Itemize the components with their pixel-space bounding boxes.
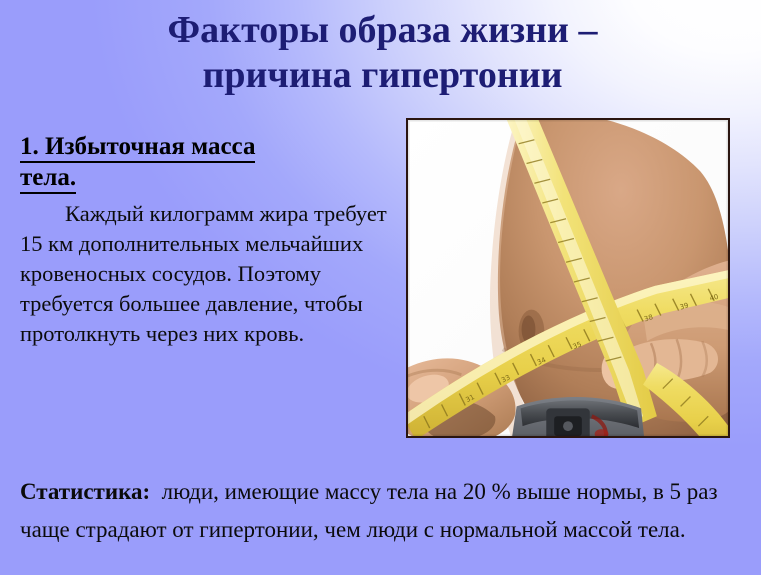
section-heading-line-1: 1. Избыточная масса (20, 133, 255, 163)
slide-title: Факторы образа жизни – причина гипертони… (60, 8, 705, 98)
statistics-paragraph: Статистика: люди, имеющие массу тела на … (20, 473, 740, 549)
left-text-column: 1. Избыточная масса тела. Каждый килогра… (20, 131, 396, 349)
slide-title-line-1: Факторы образа жизни – (60, 8, 705, 53)
section-heading: 1. Избыточная масса тела. (20, 131, 396, 193)
waist-measurement-photo: 31 33 34 35 37 38 39 40 (406, 118, 730, 438)
waist-measurement-photo-graphic: 31 33 34 35 37 38 39 40 (408, 120, 728, 436)
statistics-lead-label: Статистика: (20, 479, 150, 504)
section-heading-line-2: тела. (20, 164, 76, 194)
slide-title-line-2: причина гипертонии (60, 53, 705, 98)
body-paragraph: Каждый килограмм жира требует 15 км допо… (20, 199, 396, 349)
presentation-slide: Факторы образа жизни – причина гипертони… (0, 0, 761, 575)
